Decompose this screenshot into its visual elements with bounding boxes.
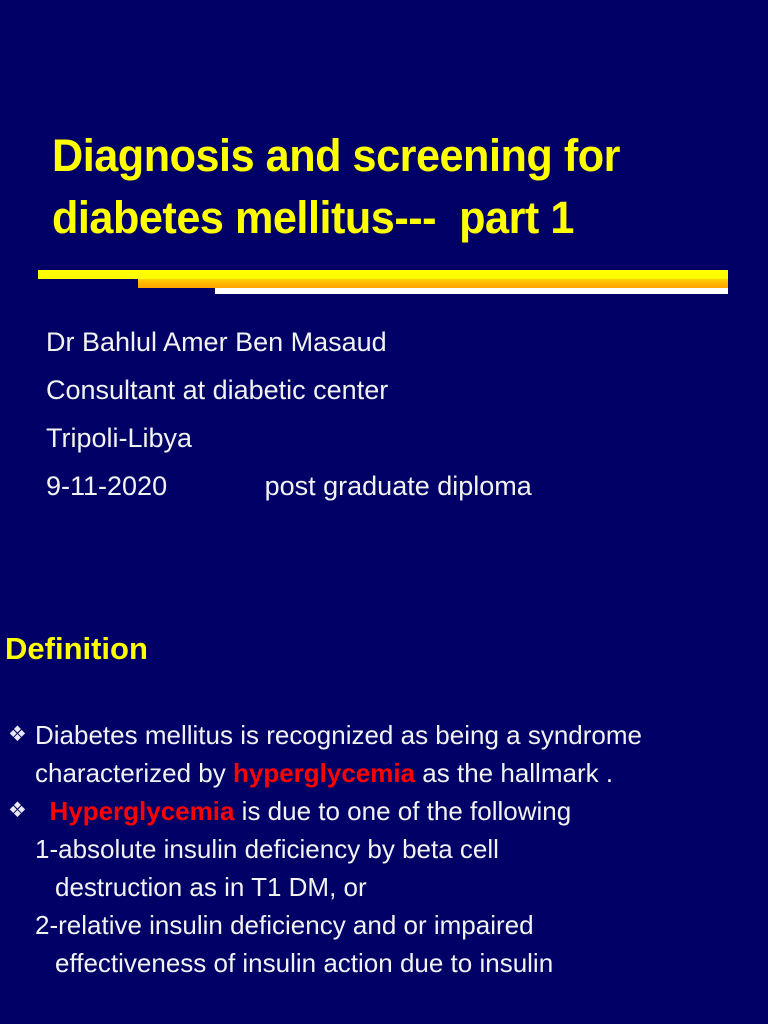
slide-title: Diagnosis and screening for diabetes mel…	[52, 125, 742, 249]
bullet-segment	[35, 796, 49, 826]
author-role: Consultant at diabetic center	[46, 366, 726, 414]
bullet-segment: is due to one of the following	[234, 796, 571, 826]
title-divider	[0, 268, 768, 298]
slide-title-line-1: Diagnosis and screening for	[52, 125, 714, 187]
sub-item-1-continued: destruction as in T1 DM, or	[0, 868, 768, 906]
author-name: Dr Bahlul Amer Ben Masaud	[46, 318, 726, 366]
date-and-program: 9-11-2020 post graduate diploma	[46, 462, 726, 510]
diamond-bullet-icon: ❖	[8, 792, 30, 830]
bullet-segment-emphasis: hyperglycemia	[233, 758, 415, 788]
bullet-item: ❖ Hyperglycemia is due to one of the fol…	[0, 792, 768, 830]
bullet-segment-emphasis: Hyperglycemia	[49, 796, 234, 826]
section-heading-definition: Definition	[5, 628, 148, 670]
presentation-slide: Diagnosis and screening for diabetes mel…	[0, 0, 768, 1024]
slide-title-line-2: diabetes mellitus--- part 1	[52, 187, 714, 249]
bullet-segment: as the hallmark .	[415, 758, 613, 788]
sub-item-2: 2-relative insulin deficiency and or imp…	[0, 906, 768, 944]
author-location: Tripoli-Libya	[46, 414, 726, 462]
author-meta-block: Dr Bahlul Amer Ben Masaud Consultant at …	[46, 318, 726, 510]
slide-body: ❖ Diabetes mellitus is recognized as bei…	[0, 716, 768, 982]
sub-item-2-continued: effectiveness of insulin action due to i…	[0, 944, 768, 982]
divider-bar-white	[215, 288, 728, 294]
bullet-item: ❖ Diabetes mellitus is recognized as bei…	[0, 716, 768, 792]
divider-bar-yellow	[38, 270, 728, 279]
divider-bar-orange	[138, 279, 728, 288]
sub-item-1: 1-absolute insulin deficiency by beta ce…	[0, 830, 768, 868]
bullet-text: Hyperglycemia is due to one of the follo…	[0, 792, 768, 830]
bullet-text: Diabetes mellitus is recognized as being…	[0, 716, 768, 792]
diamond-bullet-icon: ❖	[8, 716, 30, 754]
